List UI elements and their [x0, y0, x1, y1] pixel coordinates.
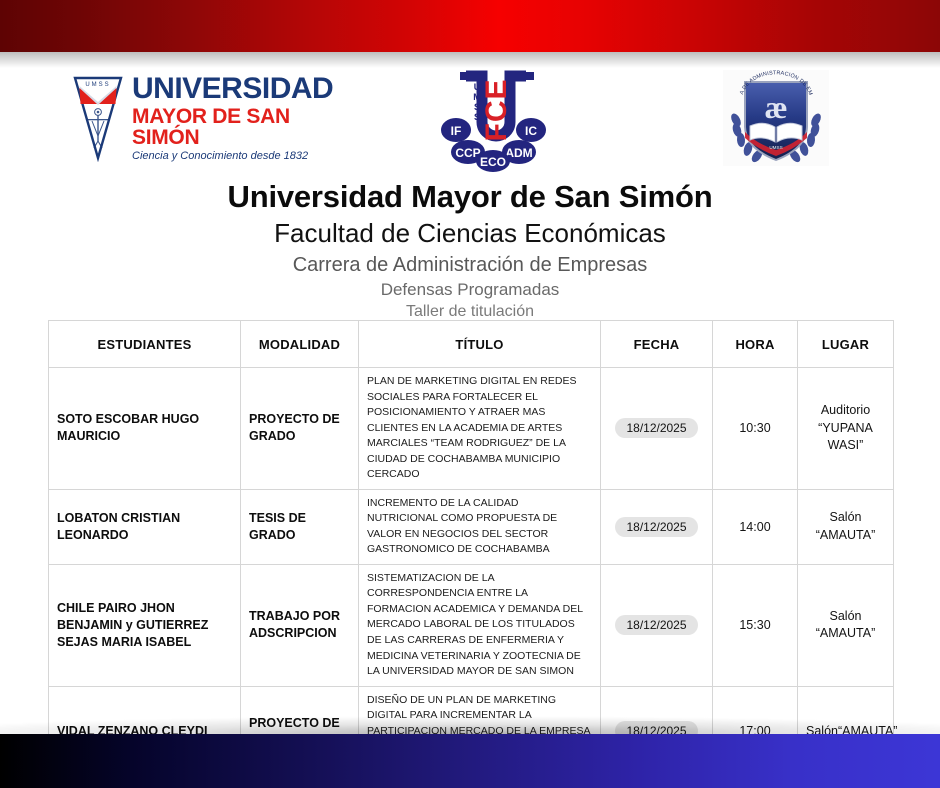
cell-lugar: Auditorio “YUPANA WASI” [798, 368, 894, 490]
event-subtitle: Defensas Programadas [0, 279, 940, 302]
cell-fecha: 18/12/2025 [601, 368, 713, 490]
column-header-titulo: TÍTULO [359, 321, 601, 368]
cell-hora: 14:00 [713, 489, 798, 564]
cell-modalidad: PROYECTO DE GRADO [241, 368, 359, 490]
table-row: LOBATON CRISTIAN LEONARDO TESIS DE GRADO… [49, 489, 894, 564]
svg-text:UMSS: UMSS [85, 82, 110, 88]
svg-text:IC: IC [525, 124, 537, 138]
cell-estudiantes: CHILE PAIRO JHON BENJAMIN y GUTIERREZ SE… [49, 564, 241, 686]
svg-text:ECO: ECO [480, 155, 506, 169]
umss-wordmark: UNIVERSIDAD MAYOR DE SAN SIMÓN Ciencia y… [132, 74, 333, 162]
bottom-blue-banner [0, 734, 940, 788]
table-row: SOTO ESCOBAR HUGO MAURICIO PROYECTO DE G… [49, 368, 894, 490]
cell-fecha: 18/12/2025 [601, 489, 713, 564]
date-badge: 18/12/2025 [615, 517, 697, 537]
umss-logo: UMSS UNIVERSIDAD MAYOR DE SAN SIMÓN Cien… [72, 72, 318, 164]
cell-hora: 15:30 [713, 564, 798, 686]
cell-hora: 10:30 [713, 368, 798, 490]
svg-text:ADM: ADM [505, 146, 532, 160]
cell-estudiantes: LOBATON CRISTIAN LEONARDO [49, 489, 241, 564]
column-header-modalidad: MODALIDAD [241, 321, 359, 368]
slide-root: UMSS UNIVERSIDAD MAYOR DE SAN SIMÓN Cien… [0, 0, 940, 788]
column-header-lugar: LUGAR [798, 321, 894, 368]
svg-text:FCE: FCE [480, 79, 513, 142]
column-header-fecha: FECHA [601, 321, 713, 368]
career-subtitle: Carrera de Administración de Empresas [0, 252, 940, 279]
fce-logo-icon: U M S S FCE IF IC CCP ADM ECO [430, 64, 550, 172]
table-header-row: ESTUDIANTES MODALIDAD TÍTULO FECHA HORA … [49, 321, 894, 368]
cell-titulo: INCREMENTO DE LA CALIDAD NUTRICIONAL COM… [359, 489, 601, 564]
schedule-table: ESTUDIANTES MODALIDAD TÍTULO FECHA HORA … [48, 320, 894, 777]
svg-text:æ: æ [764, 89, 787, 125]
schedule-table-wrapper: ESTUDIANTES MODALIDAD TÍTULO FECHA HORA … [48, 320, 893, 777]
carrera-logo-icon: CARRERA DE ADMINISTRACIÓN DE EMPRESAS æ … [723, 70, 829, 166]
umss-line3: Ciencia y Conocimiento desde 1832 [132, 151, 333, 162]
title-block: Universidad Mayor de San Simón Facultad … [0, 180, 940, 323]
table-row: CHILE PAIRO JHON BENJAMIN y GUTIERREZ SE… [49, 564, 894, 686]
cell-lugar: Salón “AMAUTA” [798, 489, 894, 564]
svg-text:UMSS: UMSS [769, 145, 782, 150]
column-header-hora: HORA [713, 321, 798, 368]
cell-fecha: 18/12/2025 [601, 564, 713, 686]
cell-lugar: Salón “AMAUTA” [798, 564, 894, 686]
cell-modalidad: TRABAJO POR ADSCRIPCION [241, 564, 359, 686]
umss-shield-icon: UMSS [72, 74, 124, 162]
date-badge: 18/12/2025 [615, 418, 697, 438]
faculty-subtitle: Facultad de Ciencias Económicas [0, 217, 940, 251]
cell-estudiantes: SOTO ESCOBAR HUGO MAURICIO [49, 368, 241, 490]
column-header-estudiantes: ESTUDIANTES [49, 321, 241, 368]
umss-line1: UNIVERSIDAD [132, 74, 333, 104]
svg-text:IF: IF [451, 124, 462, 138]
top-red-banner [0, 0, 940, 52]
date-badge: 18/12/2025 [615, 615, 697, 635]
cell-modalidad: TESIS DE GRADO [241, 489, 359, 564]
cell-titulo: SISTEMATIZACION DE LA CORRESPONDENCIA EN… [359, 564, 601, 686]
cell-titulo: PLAN DE MARKETING DIGITAL EN REDES SOCIA… [359, 368, 601, 490]
logo-strip: UMSS UNIVERSIDAD MAYOR DE SAN SIMÓN Cien… [0, 62, 940, 174]
umss-line2: MAYOR DE SAN SIMÓN [132, 106, 333, 148]
page-title: Universidad Mayor de San Simón [0, 180, 940, 215]
